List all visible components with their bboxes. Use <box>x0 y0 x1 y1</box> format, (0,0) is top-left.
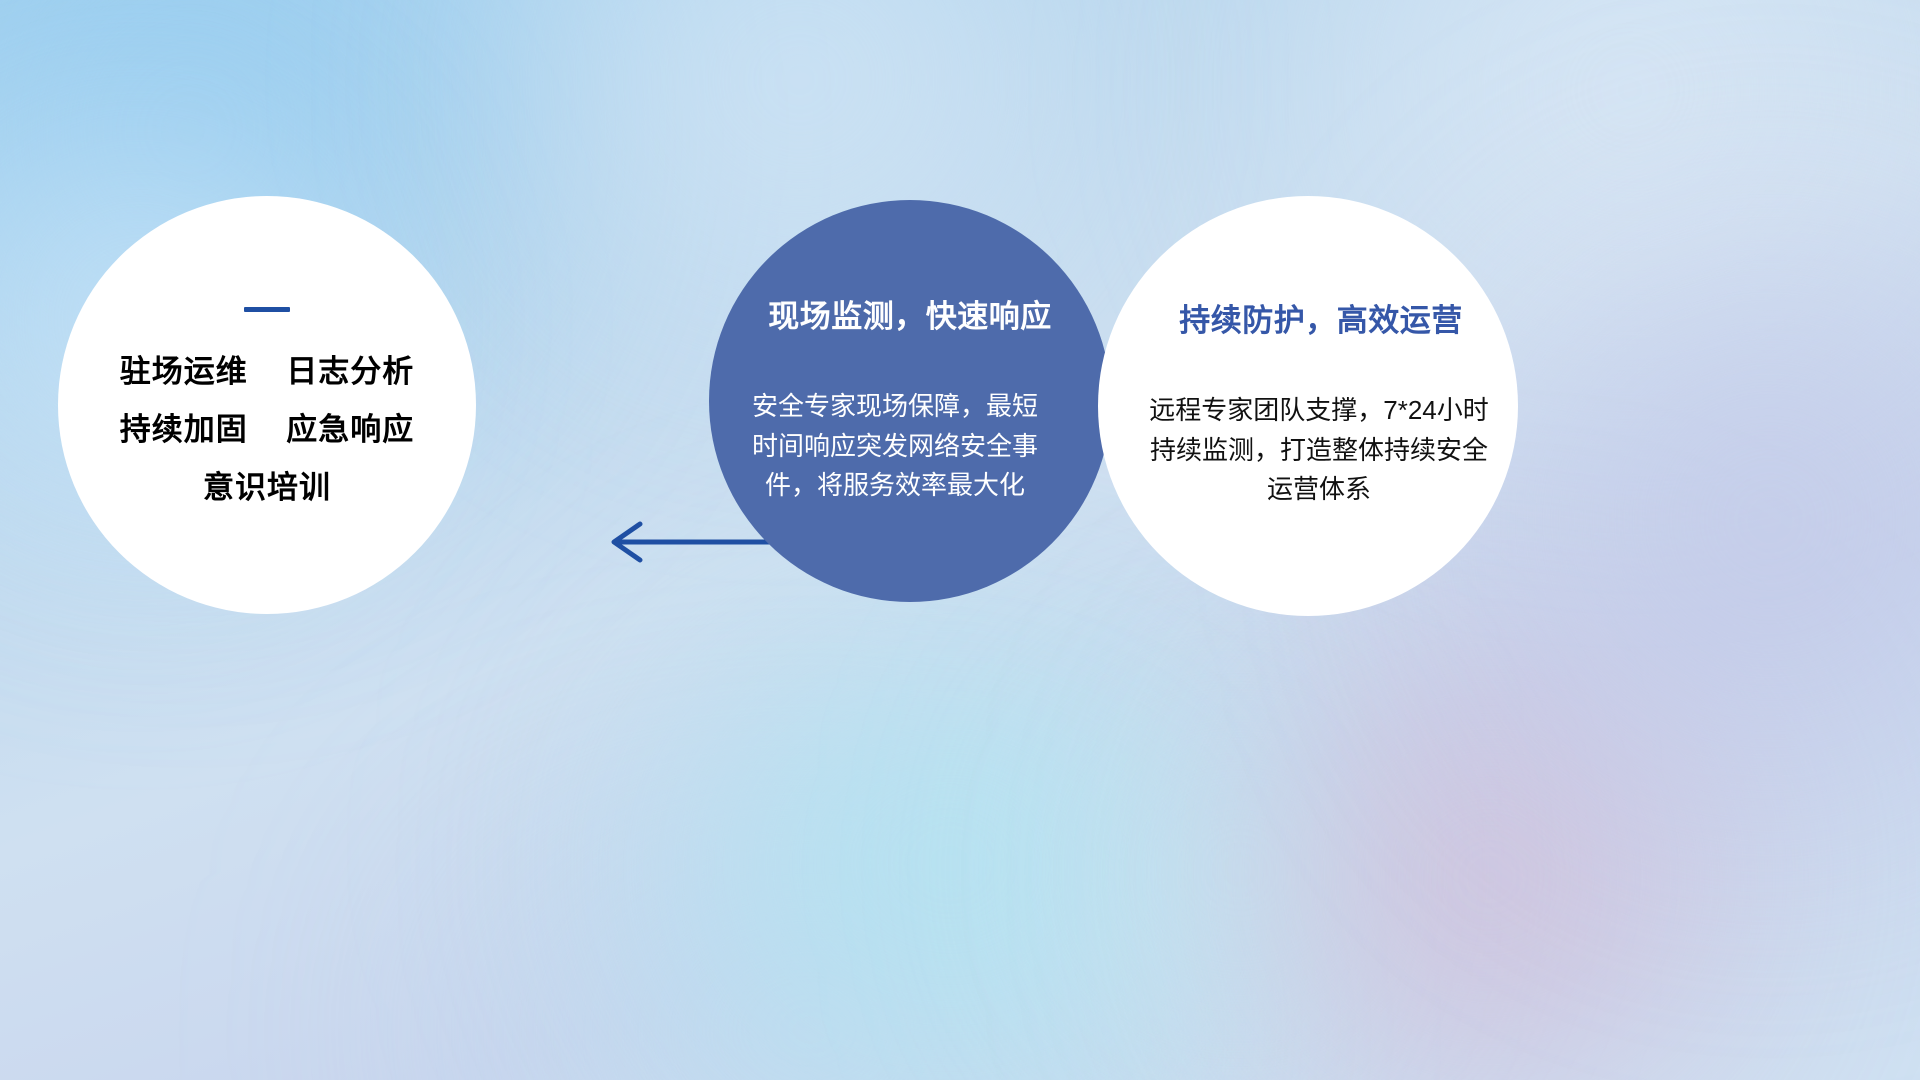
card-continuous-protection-body: 远程专家团队支撑，7*24小时持续监测，打造整体持续安全运营体系 <box>1141 391 1497 510</box>
card-onsite-monitoring-content: 现场监测，快速响应 安全专家现场保障，最短时间响应突发网络安全事件，将服务效率最… <box>745 298 1075 506</box>
card-continuous-protection-title: 持续防护，高效运营 <box>1141 302 1501 339</box>
card-capabilities-line-3: 意识培训 <box>97 472 437 503</box>
divider-dash <box>244 307 290 312</box>
card-capabilities-line-2: 持续加固 应急响应 <box>97 414 437 445</box>
card-continuous-protection-content: 持续防护，高效运营 远程专家团队支撑，7*24小时持续监测，打造整体持续安全运营… <box>1141 302 1501 510</box>
slide-canvas: 现场监测，快速响应 安全专家现场保障，最短时间响应突发网络安全事件，将服务效率最… <box>0 0 1920 1080</box>
card-continuous-protection[interactable]: 持续防护，高效运营 远程专家团队支撑，7*24小时持续监测，打造整体持续安全运营… <box>1098 196 1518 616</box>
card-capabilities-line-1: 驻场运维 日志分析 <box>97 356 437 387</box>
card-onsite-monitoring[interactable]: 现场监测，快速响应 安全专家现场保障，最短时间响应突发网络安全事件，将服务效率最… <box>709 200 1111 602</box>
card-capabilities[interactable]: 驻场运维 日志分析 持续加固 应急响应 意识培训 <box>58 196 476 614</box>
card-capabilities-content: 驻场运维 日志分析 持续加固 应急响应 意识培训 <box>97 307 437 503</box>
card-onsite-monitoring-body: 安全专家现场保障，最短时间响应突发网络安全事件，将服务效率最大化 <box>745 387 1045 506</box>
card-onsite-monitoring-title: 现场监测，快速响应 <box>745 298 1075 335</box>
